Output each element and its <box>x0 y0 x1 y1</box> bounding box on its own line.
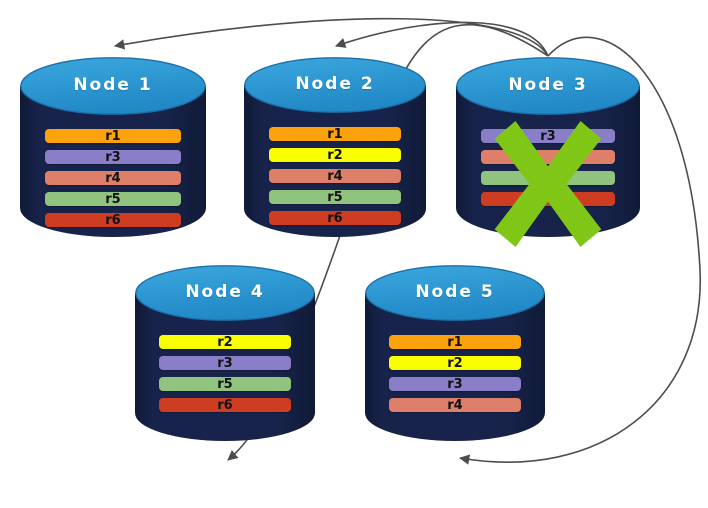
replica-bar[interactable]: r4 <box>269 169 401 183</box>
replica-label: r1 <box>327 128 342 141</box>
replica-label: r2 <box>447 357 462 370</box>
replica-bar[interactable]: r3 <box>481 129 615 143</box>
replica-bar[interactable]: r6 <box>269 211 401 225</box>
replica-bar[interactable]: r4 <box>45 171 181 185</box>
node-5-replica-list: r1r2r3r4 <box>365 335 545 412</box>
node-3[interactable]: Node 3r3 <box>456 57 640 237</box>
node-2-title: Node 2 <box>244 74 426 94</box>
replica-label: r4 <box>447 399 462 412</box>
node-3-replica-list: r3 <box>456 129 640 206</box>
replica-label: r3 <box>447 378 462 391</box>
replica-bar[interactable]: r6 <box>45 213 181 227</box>
node-4[interactable]: Node 4r2r3r5r6 <box>135 265 315 441</box>
replica-label: r6 <box>327 212 342 225</box>
replica-label: r6 <box>105 214 120 227</box>
replica-label: r3 <box>217 357 232 370</box>
replica-label: r6 <box>217 399 232 412</box>
replica-label: r3 <box>540 130 555 143</box>
replica-bar[interactable]: r1 <box>389 335 521 349</box>
edge-node3-to-node2 <box>336 22 548 56</box>
replica-label: r5 <box>105 193 120 206</box>
replica-bar[interactable]: r4 <box>389 398 521 412</box>
replica-bar[interactable]: r5 <box>269 190 401 204</box>
node-1-title: Node 1 <box>20 75 206 95</box>
replica-bar[interactable]: r3 <box>159 356 291 370</box>
replica-bar[interactable] <box>481 192 615 206</box>
replica-label: r5 <box>217 378 232 391</box>
replica-bar[interactable]: r2 <box>159 335 291 349</box>
replica-label: r2 <box>327 149 342 162</box>
node-3-title: Node 3 <box>456 75 640 95</box>
replica-bar[interactable]: r1 <box>269 127 401 141</box>
edge-node3-to-node1 <box>115 19 548 56</box>
node-1-replica-list: r1r3r4r5r6 <box>20 129 206 227</box>
replica-bar[interactable]: r1 <box>45 129 181 143</box>
replica-bar[interactable]: r3 <box>389 377 521 391</box>
replica-label: r2 <box>217 336 232 349</box>
replication-diagram-canvas: Node 1r1r3r4r5r6Node 2r1r2r4r5r6Node 3r3… <box>0 0 708 508</box>
replica-label: r4 <box>327 170 342 183</box>
replica-bar[interactable]: r6 <box>159 398 291 412</box>
replica-label: r3 <box>105 151 120 164</box>
replica-bar[interactable]: r2 <box>269 148 401 162</box>
node-4-title: Node 4 <box>135 282 315 302</box>
replica-bar[interactable]: r5 <box>45 192 181 206</box>
node-2-replica-list: r1r2r4r5r6 <box>244 127 426 225</box>
replica-label: r4 <box>105 172 120 185</box>
node-5-title: Node 5 <box>365 282 545 302</box>
node-4-replica-list: r2r3r5r6 <box>135 335 315 412</box>
replica-bar[interactable] <box>481 150 615 164</box>
replica-label: r1 <box>447 336 462 349</box>
node-1[interactable]: Node 1r1r3r4r5r6 <box>20 57 206 237</box>
node-2[interactable]: Node 2r1r2r4r5r6 <box>244 57 426 237</box>
replica-bar[interactable] <box>481 171 615 185</box>
replica-bar[interactable]: r5 <box>159 377 291 391</box>
replica-bar[interactable]: r2 <box>389 356 521 370</box>
replica-label: r1 <box>105 130 120 143</box>
replica-bar[interactable]: r3 <box>45 150 181 164</box>
replica-label: r5 <box>327 191 342 204</box>
node-5[interactable]: Node 5r1r2r3r4 <box>365 265 545 441</box>
